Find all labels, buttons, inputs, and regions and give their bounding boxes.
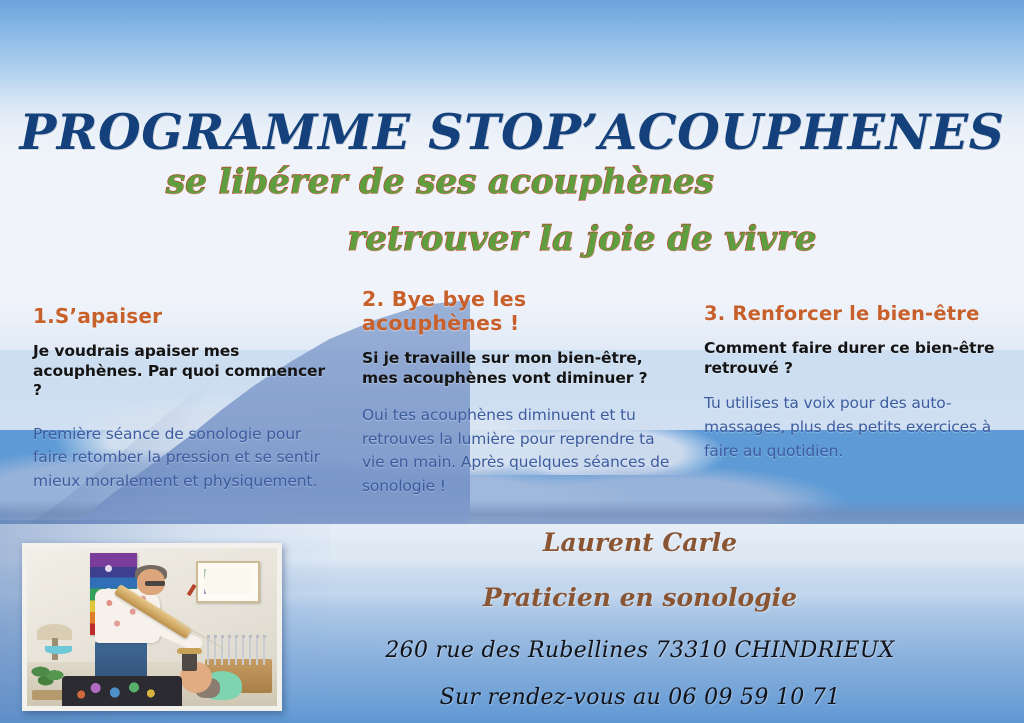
step-2-question: Si je travaille sur mon bien-être, mes a… — [362, 349, 672, 388]
practitioner-name: Laurent Carle — [330, 528, 950, 557]
practitioner-role: Praticien en sonologie — [330, 583, 950, 612]
chakra-symbol-upper — [105, 565, 112, 572]
subtitle-line-1: se libérer de ses acouphènes — [0, 162, 880, 202]
practitioner-phone: Sur rendez-vous au 06 09 59 10 71 — [330, 685, 950, 710]
page-title: PROGRAMME STOP’ACOUPHENES — [0, 103, 1024, 161]
step-2-body: Oui tes acouphènes diminuent et tu retro… — [362, 404, 672, 498]
step-3-body: Tu utilises ta voix pour des auto-massag… — [704, 392, 999, 463]
tuning-forks-tops — [207, 635, 270, 638]
framed-wall-art — [196, 561, 260, 603]
poster-content: PROGRAMME STOP’ACOUPHENES se libérer de … — [0, 0, 1024, 723]
wall-art-image — [204, 569, 252, 595]
step-column-2: 2. Bye bye les acouphènes ! Si je travai… — [362, 288, 672, 498]
singing-bowl — [45, 646, 73, 654]
potted-plant — [30, 663, 65, 691]
step-column-1: 1.S’apaiser Je voudrais apaiser mes acou… — [33, 305, 333, 493]
sound-tool-head — [177, 648, 202, 654]
practitioner-address: 260 rue des Rubellines 73310 CHINDRIEUX — [330, 638, 950, 663]
session-photo — [27, 548, 277, 706]
step-1-heading: 1.S’apaiser — [33, 305, 333, 328]
step-3-heading: 3. Renforcer le bien-être — [704, 303, 999, 325]
step-1-question: Je voudrais apaiser mes acouphènes. Par … — [33, 342, 333, 401]
contact-block: Laurent Carle Praticien en sonologie 260… — [330, 528, 950, 710]
step-2-heading: 2. Bye bye les acouphènes ! — [362, 288, 672, 335]
step-1-body: Première séance de sonologie pour faire … — [33, 423, 333, 494]
step-column-3: 3. Renforcer le bien-être Comment faire … — [704, 303, 999, 463]
poster-root: PROGRAMME STOP’ACOUPHENES se libérer de … — [0, 0, 1024, 723]
practitioner-glasses — [145, 581, 165, 586]
practitioner-legs — [95, 640, 148, 681]
subtitle-line-2: retrouver la joie de vivre — [0, 219, 1024, 259]
step-3-question: Comment faire durer ce bien-être retrouv… — [704, 339, 999, 378]
tuning-forks — [207, 635, 270, 665]
chakra-blanket — [62, 676, 182, 706]
session-photo-frame — [22, 543, 282, 711]
